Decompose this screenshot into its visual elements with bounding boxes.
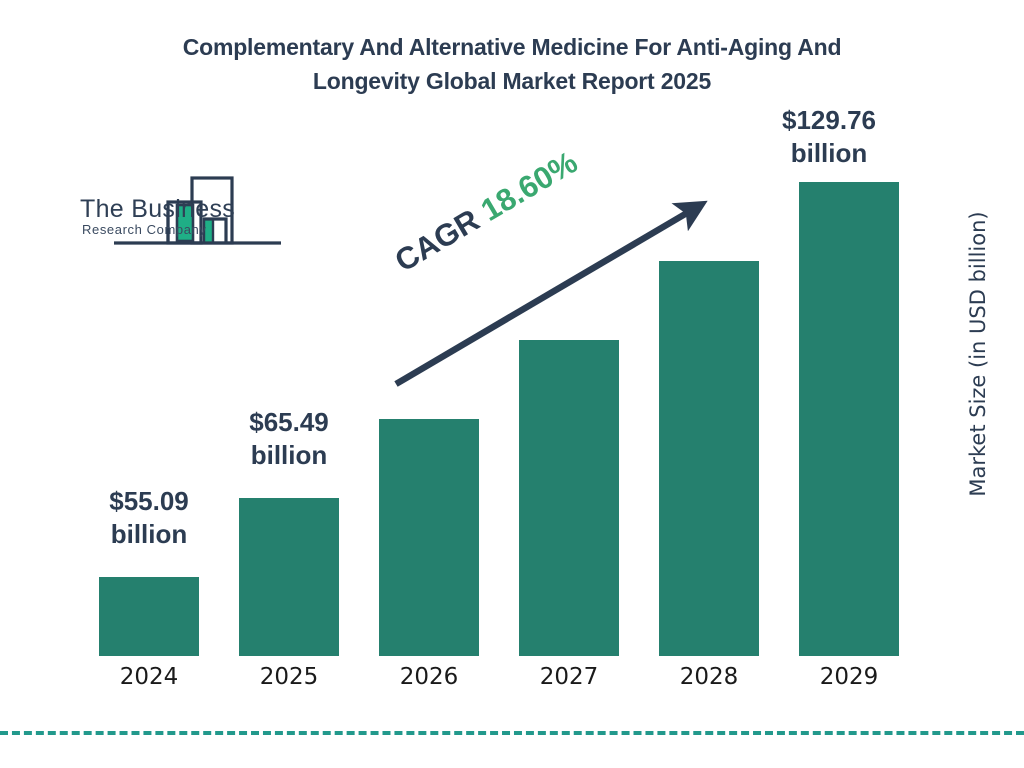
company-logo: The Business Research Company [76, 172, 286, 252]
value-label-2025-line2: billion [219, 439, 359, 472]
xaxis-label-2029: 2029 [779, 664, 919, 690]
value-label-2025: $65.49 billion [219, 406, 359, 472]
value-label-2024-line1: $55.09 [79, 485, 219, 518]
plot-area: $55.09 billion $65.49 billion $129.76 bi… [0, 0, 1024, 768]
yaxis-title: Market Size (in USD billion) [966, 204, 990, 504]
xaxis-label-2024: 2024 [79, 664, 219, 690]
growth-arrow-icon [380, 190, 720, 400]
value-label-2029-line2: billion [759, 137, 899, 170]
value-label-2024: $55.09 billion [79, 485, 219, 551]
logo-title: The Business [80, 196, 235, 222]
xaxis-label-2026: 2026 [359, 664, 499, 690]
xaxis-label-2027: 2027 [499, 664, 639, 690]
bar-2026 [379, 419, 479, 656]
value-label-2025-line1: $65.49 [219, 406, 359, 439]
bar-2029 [799, 182, 899, 656]
value-label-2024-line2: billion [79, 518, 219, 551]
bar-2025 [239, 498, 339, 656]
chart-canvas: Complementary And Alternative Medicine F… [0, 0, 1024, 768]
footer-divider [0, 731, 1024, 735]
value-label-2029: $129.76 billion [759, 104, 899, 170]
xaxis-label-2025: 2025 [219, 664, 359, 690]
logo-text: The Business Research Company [80, 196, 235, 238]
bar-2024 [99, 577, 199, 656]
logo-subtitle: Research Company [80, 222, 235, 238]
xaxis-label-2028: 2028 [639, 664, 779, 690]
value-label-2029-line1: $129.76 [759, 104, 899, 137]
